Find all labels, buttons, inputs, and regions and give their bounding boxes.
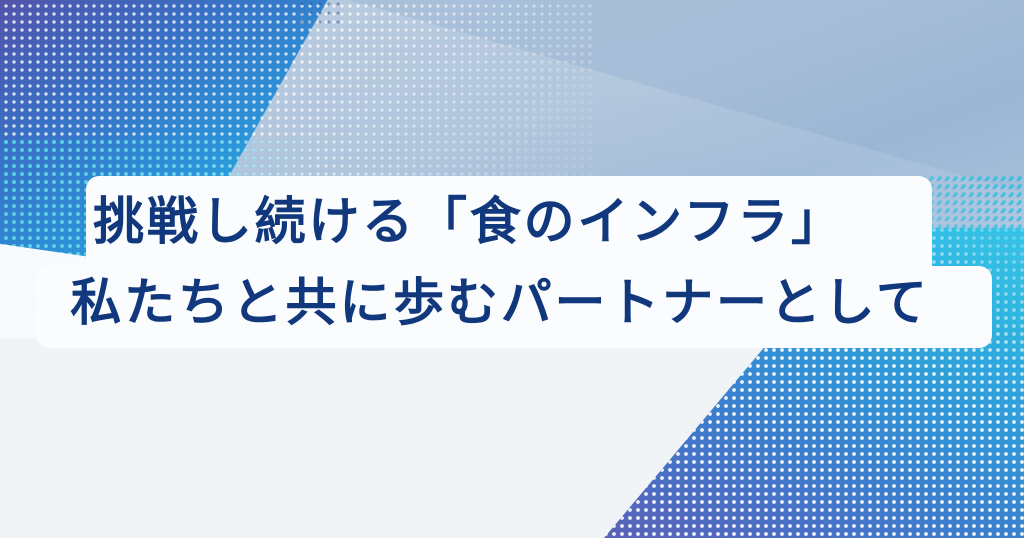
headline-line-2: 私たちと共に歩むパートナーとして xyxy=(0,277,1024,329)
halftone-speckle-icon xyxy=(300,2,340,28)
hero-banner: 挑戦し続ける「食のインフラ」 私たちと共に歩むパートナーとして xyxy=(0,0,1024,538)
headline-line-1: 挑戦し続ける「食のインフラ」 xyxy=(0,196,1024,248)
